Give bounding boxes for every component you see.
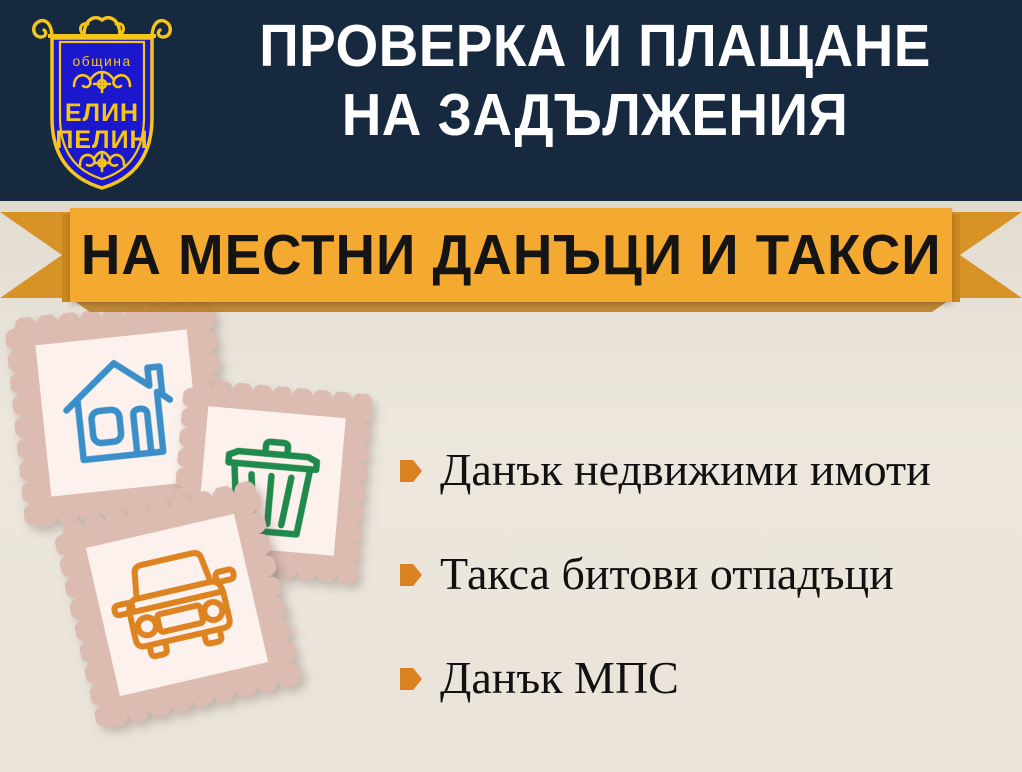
- header-banner: община ЕЛИН ПЕЛИН: [0, 0, 1022, 201]
- crest-label-line1: ЕЛИН: [65, 99, 139, 127]
- pentagon-arrow-bullet-icon: [400, 666, 422, 692]
- pentagon-arrow-bullet-icon: [400, 562, 422, 588]
- title-line-1: ПРОВЕРКА И ПЛАЩАНЕ: [218, 18, 971, 76]
- municipality-crest: община ЕЛИН ПЕЛИН: [22, 8, 182, 196]
- ribbon-plate: НА МЕСТНИ ДАНЪЦИ И ТАКСИ: [70, 208, 952, 302]
- crest-label-line2: ПЕЛИН: [55, 126, 148, 154]
- list-item-label: Такса битови отпадъци: [440, 551, 894, 597]
- list-item[interactable]: Такса битови отпадъци: [400, 522, 1020, 626]
- stamp-card-group: [0, 300, 420, 772]
- list-item[interactable]: Данък недвижими имоти: [400, 418, 1020, 522]
- page-title: ПРОВЕРКА И ПЛАЩАНЕ НА ЗАДЪЛЖЕНИЯ: [190, 18, 1000, 145]
- list-item-label: Данък МПС: [440, 655, 679, 701]
- title-line-2: НА ЗАДЪЛЖЕНИЯ: [218, 87, 971, 145]
- coat-of-arms-shield-icon: община ЕЛИН ПЕЛИН: [22, 8, 182, 196]
- list-item-label: Данък недвижими имоти: [440, 447, 931, 493]
- tax-type-list: Данък недвижими имоти Такса битови отпад…: [400, 418, 1020, 730]
- pentagon-arrow-bullet-icon: [400, 458, 422, 484]
- poster-canvas: община ЕЛИН ПЕЛИН: [0, 0, 1022, 772]
- crest-label-top: община: [72, 53, 131, 69]
- ribbon-text: НА МЕСТНИ ДАНЪЦИ И ТАКСИ: [81, 222, 942, 288]
- subtitle-ribbon: НА МЕСТНИ ДАНЪЦИ И ТАКСИ: [0, 198, 1022, 310]
- list-item[interactable]: Данък МПС: [400, 626, 1020, 730]
